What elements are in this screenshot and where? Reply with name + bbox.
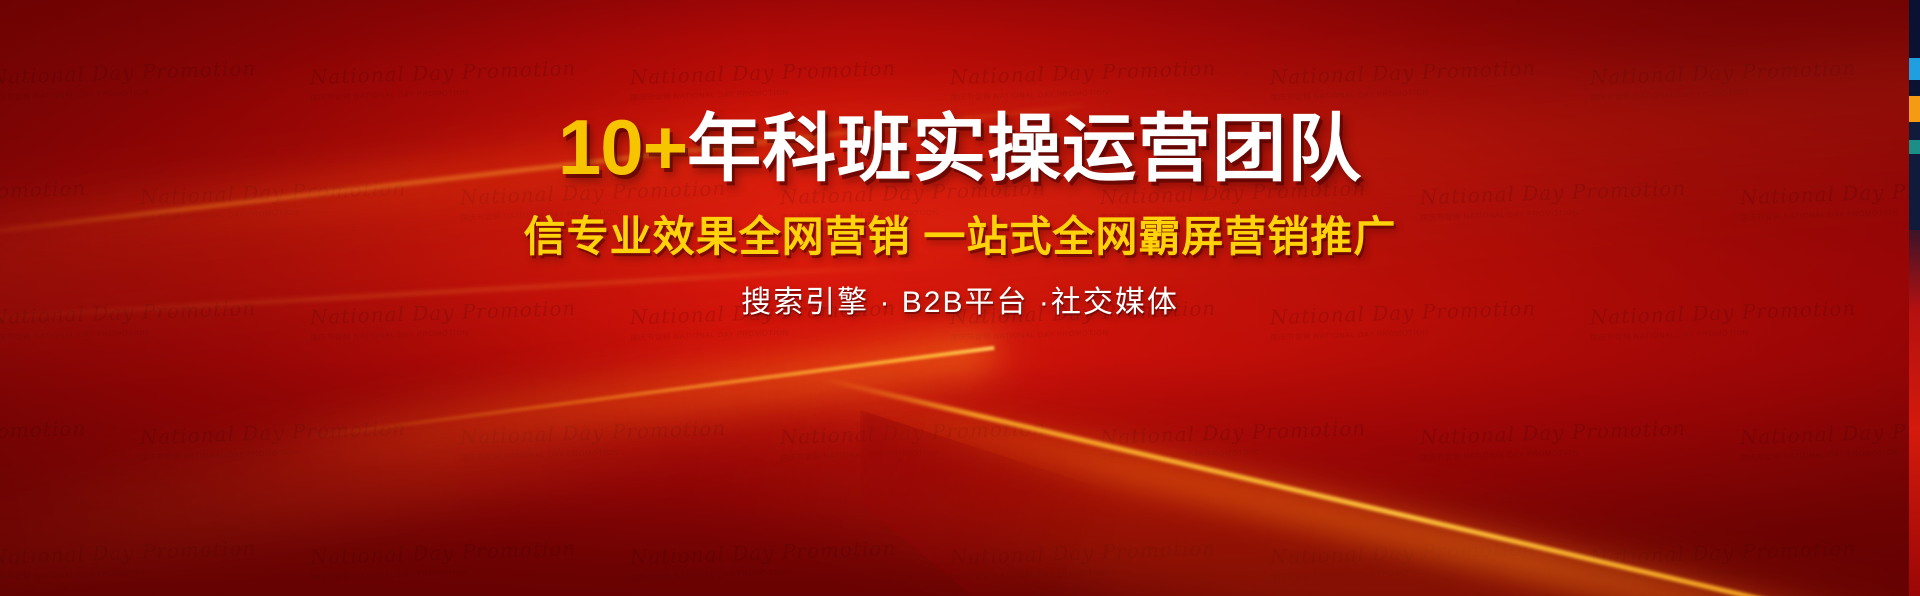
sliver-red-fade	[1909, 230, 1920, 596]
sliver-chip-blue	[1909, 58, 1920, 80]
sliver-chip-orange	[1909, 96, 1920, 122]
promo-banner: National Day Promotion国庆节促销 NATIONAL DAY…	[0, 0, 1920, 596]
next-slide-sliver[interactable]	[1909, 0, 1920, 596]
sliver-chip-teal	[1909, 140, 1920, 154]
